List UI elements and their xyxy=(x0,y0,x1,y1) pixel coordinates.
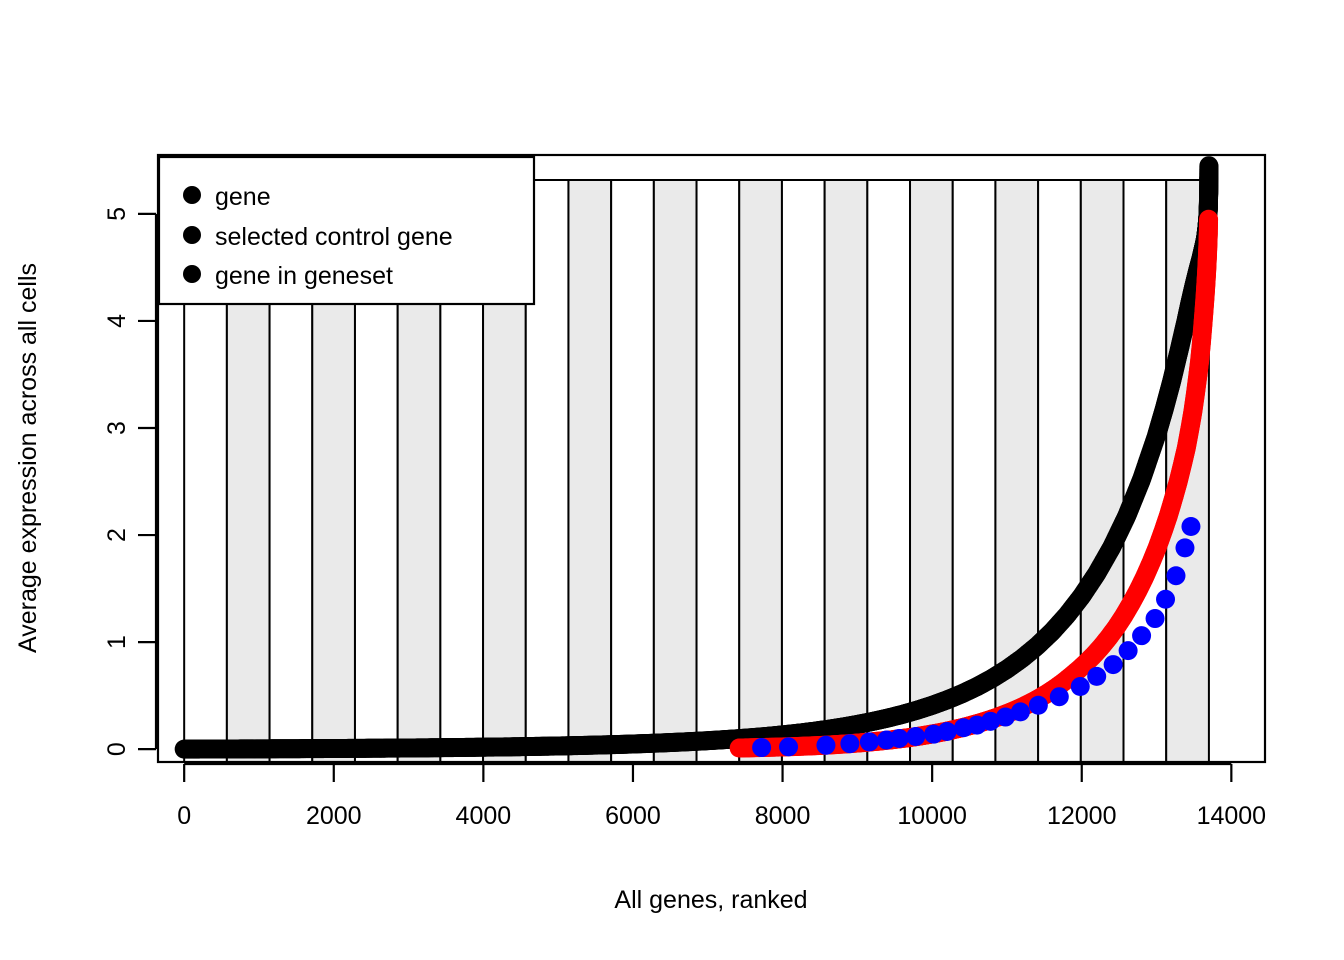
data-point xyxy=(906,727,925,746)
legend-marker-gene-in-geneset xyxy=(183,265,201,283)
expression-bin-band xyxy=(739,180,782,762)
x-axis-tick-label: 0 xyxy=(177,802,191,830)
x-axis-tick-label: 4000 xyxy=(456,802,512,830)
expression-bin-band xyxy=(867,180,910,762)
y-axis-tick-label: 5 xyxy=(103,207,131,221)
expression-bin-band xyxy=(910,180,953,762)
x-axis-tick-label: 2000 xyxy=(306,802,362,830)
x-axis-tick-label: 14000 xyxy=(1197,802,1267,830)
y-axis-tick-label: 4 xyxy=(103,314,131,328)
legend-marker-selected-control-gene xyxy=(183,226,201,244)
y-axis-tick-label: 2 xyxy=(103,528,131,542)
data-point xyxy=(1029,696,1048,715)
chart-root: 02000400060008000100001200014000012345Al… xyxy=(0,0,1344,960)
data-point xyxy=(1146,609,1165,628)
data-point xyxy=(1087,667,1106,686)
legend-marker-gene xyxy=(183,186,201,204)
data-point xyxy=(840,734,859,753)
data-point xyxy=(938,722,957,741)
x-axis-tick-label: 6000 xyxy=(605,802,661,830)
y-axis-tick-label: 1 xyxy=(103,635,131,649)
data-point xyxy=(1011,702,1030,721)
legend: gene selected control gene gene in genes… xyxy=(159,157,534,304)
data-point xyxy=(1199,210,1218,229)
data-point xyxy=(1071,677,1090,696)
data-point xyxy=(1175,538,1194,557)
data-point xyxy=(890,729,909,748)
expression-bin-band xyxy=(697,180,740,762)
legend-label-gene: gene xyxy=(215,183,271,211)
data-point xyxy=(1199,156,1218,175)
x-axis-title: All genes, ranked xyxy=(614,886,807,914)
x-axis-tick-label: 10000 xyxy=(897,802,967,830)
data-point xyxy=(779,737,798,756)
scatter-plot-figure: 02000400060008000100001200014000012345Al… xyxy=(0,0,1344,960)
data-point xyxy=(1181,517,1200,536)
expression-bin-band xyxy=(654,180,697,762)
data-point xyxy=(1166,566,1185,585)
expression-bin-band xyxy=(568,180,611,762)
expression-bin-band xyxy=(782,180,825,762)
legend-label-gene-in-geneset: gene in geneset xyxy=(215,262,393,290)
x-axis-tick-label: 8000 xyxy=(755,802,811,830)
y-axis-title: Average expression across all cells xyxy=(14,263,42,653)
data-point xyxy=(816,736,835,755)
data-point xyxy=(752,738,771,757)
data-point xyxy=(1132,626,1151,645)
expression-bin-band xyxy=(825,180,868,762)
y-axis-tick-label: 0 xyxy=(103,742,131,756)
data-point xyxy=(860,732,879,751)
y-axis-tick-label: 3 xyxy=(103,421,131,435)
x-axis-tick-label: 12000 xyxy=(1047,802,1117,830)
expression-bin-band xyxy=(611,180,654,762)
data-point xyxy=(1156,590,1175,609)
data-point xyxy=(1104,655,1123,674)
data-point xyxy=(1119,641,1138,660)
data-point xyxy=(1050,687,1069,706)
legend-label-selected-control-gene: selected control gene xyxy=(215,223,453,251)
